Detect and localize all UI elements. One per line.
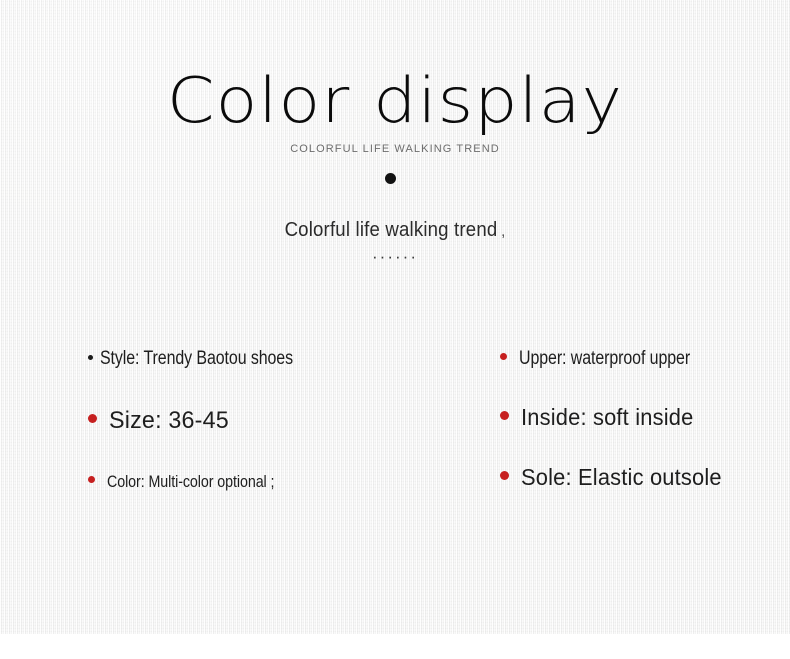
bullet-icon — [500, 411, 509, 420]
page-subtitle: COLORFUL LIFE WALKING TREND — [0, 143, 790, 155]
spec-item-inside: Inside: soft inside — [500, 404, 770, 431]
decorative-dot-icon — [385, 173, 396, 184]
spec-item-upper: Upper: waterproof upper — [500, 348, 770, 370]
tagline-text: Colorful life walking trend — [285, 219, 498, 241]
bullet-icon — [88, 476, 95, 483]
spec-label-style: Style: Trendy Baotou shoes — [100, 348, 293, 370]
bullet-icon — [88, 355, 93, 360]
tagline-ellipsis: ······ — [0, 247, 790, 267]
spec-item-color: Color: Multi-color optional ; — [88, 472, 448, 492]
spec-list-left: Style: Trendy Baotou shoes Size: 36-45 C… — [88, 348, 448, 492]
spec-label-color: Color: Multi-color optional ; — [107, 472, 274, 492]
spec-label-size: Size: 36-45 — [109, 407, 229, 435]
spec-item-size: Size: 36-45 — [88, 407, 448, 435]
product-info-banner: Color display COLORFUL LIFE WALKING TREN… — [0, 0, 790, 659]
tagline: Colorful life walking trend, — [28, 219, 763, 242]
spec-item-style: Style: Trendy Baotou shoes — [88, 348, 448, 370]
page-title: Color display — [0, 68, 790, 133]
content-layer: Color display COLORFUL LIFE WALKING TREN… — [0, 0, 790, 659]
spec-label-sole: Sole: Elastic outsole — [521, 464, 722, 491]
bullet-icon — [88, 414, 97, 423]
tagline-trailing-mark: , — [497, 223, 505, 240]
spec-label-inside: Inside: soft inside — [521, 404, 693, 431]
spec-label-upper: Upper: waterproof upper — [519, 348, 690, 370]
spec-item-sole: Sole: Elastic outsole — [500, 464, 770, 491]
bullet-icon — [500, 471, 509, 480]
bullet-icon — [500, 353, 507, 360]
spec-list-right: Upper: waterproof upper Inside: soft ins… — [500, 348, 770, 491]
